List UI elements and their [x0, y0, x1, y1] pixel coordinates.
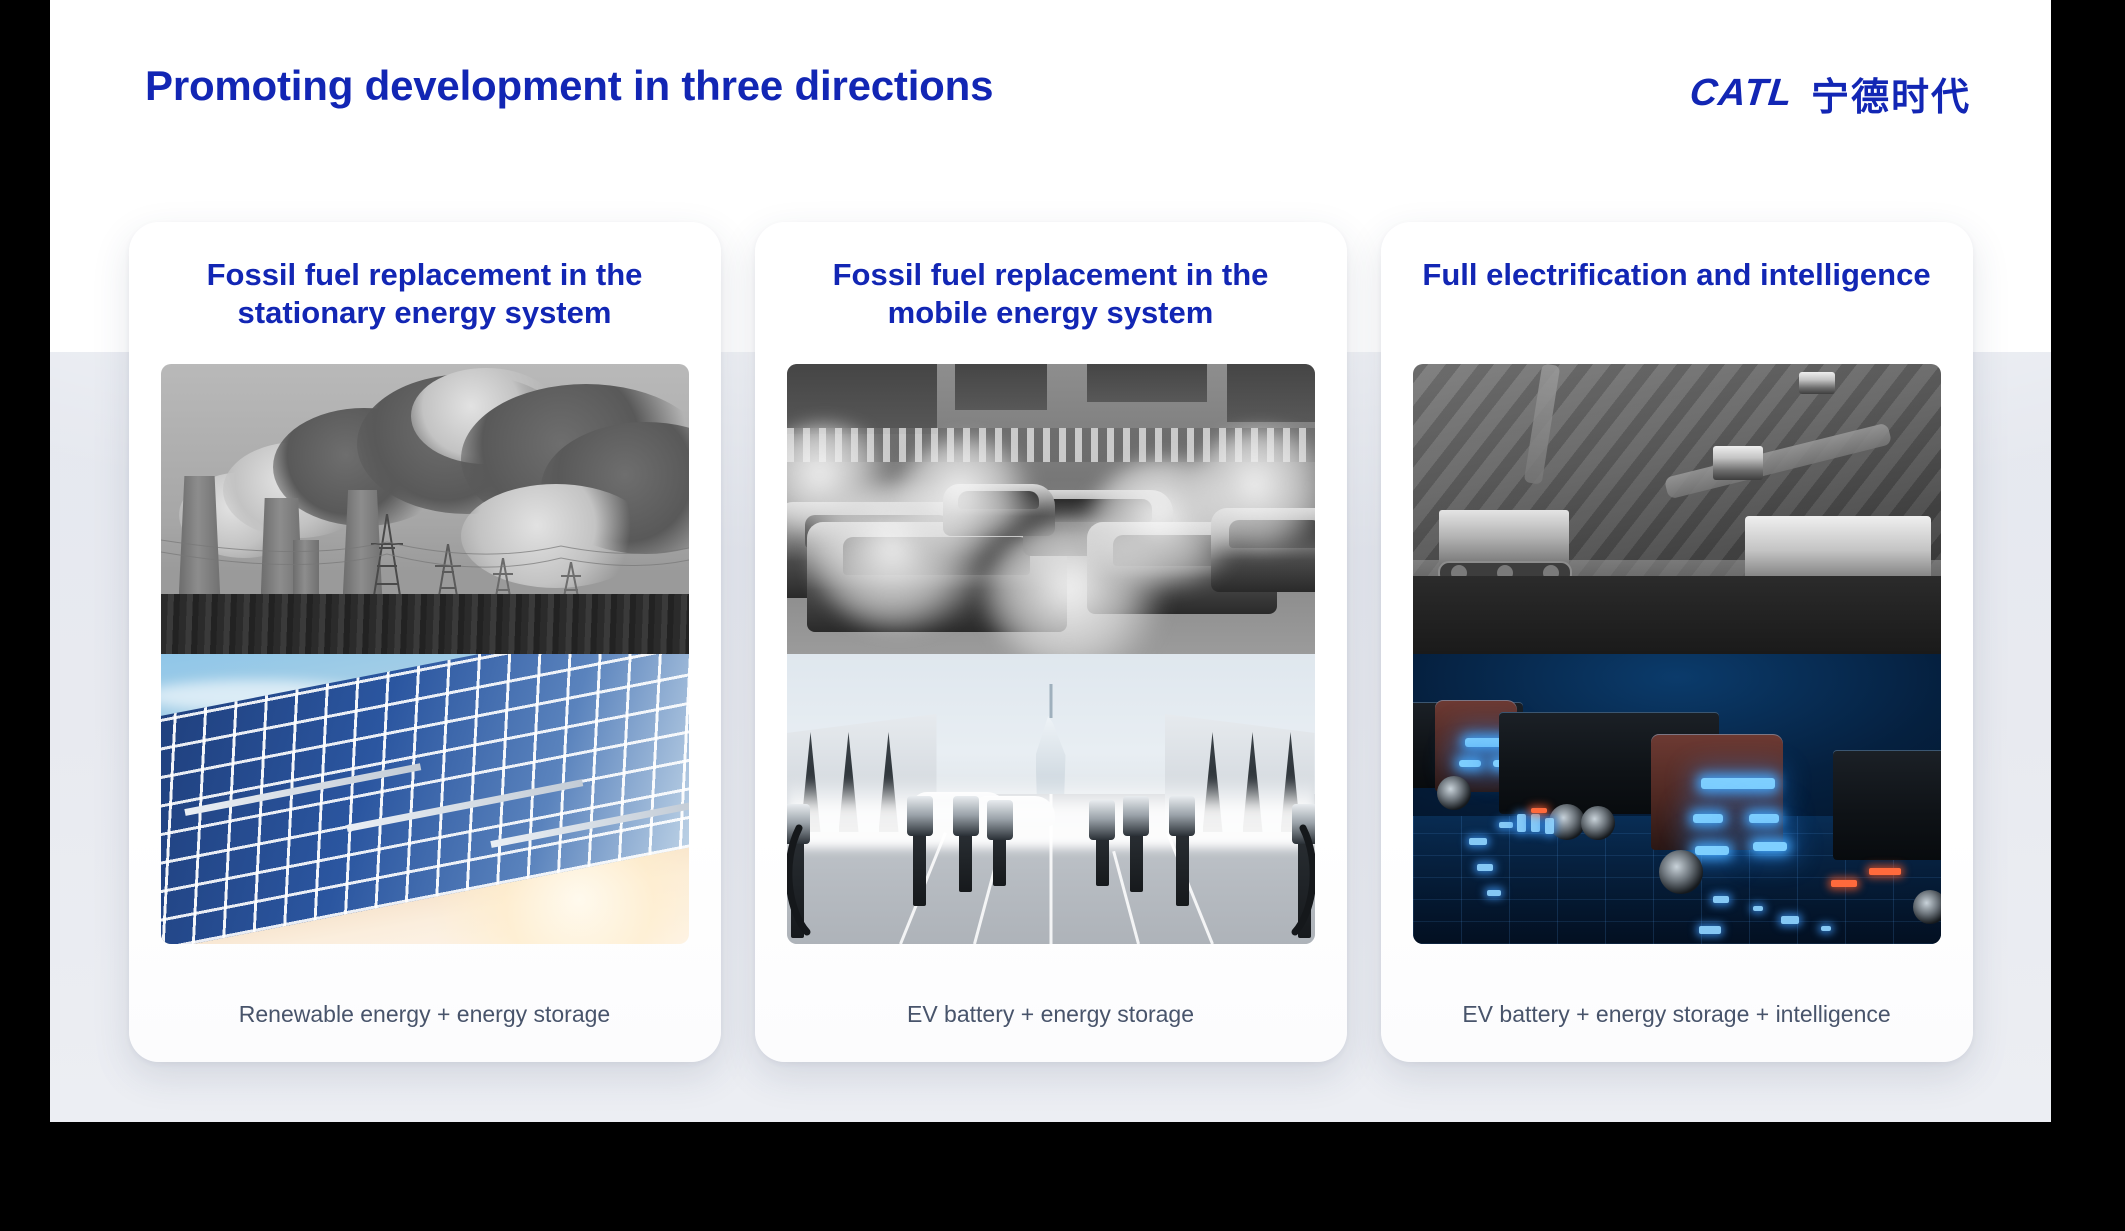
- card-caption: Renewable energy + energy storage: [239, 1001, 610, 1028]
- card-caption: EV battery + energy storage + intelligen…: [1462, 1001, 1890, 1028]
- card-title: Fossil fuel replacement in the stationar…: [157, 256, 693, 348]
- catl-logo: CATL 宁德时代: [1690, 66, 1971, 121]
- page-title: Promoting development in three direction…: [145, 62, 993, 110]
- slide-stage: Promoting development in three direction…: [50, 0, 2051, 1122]
- logo-latin-text: CATL: [1688, 72, 1795, 115]
- card-title: Fossil fuel replacement in the mobile en…: [783, 256, 1319, 348]
- power-lines: [161, 522, 689, 602]
- card-media-stack: [787, 364, 1315, 944]
- open-pit-mine-photo: [1413, 364, 1941, 654]
- ev-charging-station-photo: [787, 654, 1315, 944]
- smart-electric-trucks-photo: [1413, 654, 1941, 944]
- direction-card-3[interactable]: Full electrification and intelligence: [1381, 222, 1973, 1062]
- traffic-exhaust-photo: [787, 364, 1315, 654]
- card-media-stack: [1413, 364, 1941, 944]
- direction-card-1[interactable]: Fossil fuel replacement in the stationar…: [129, 222, 721, 1062]
- coal-power-plant-photo: [161, 364, 689, 654]
- solar-panel-photo: [161, 654, 689, 944]
- card-media-stack: [161, 364, 689, 944]
- logo-chinese-text: 宁德时代: [1811, 66, 1971, 121]
- direction-card-2[interactable]: Fossil fuel replacement in the mobile en…: [755, 222, 1347, 1062]
- direction-card-row: Fossil fuel replacement in the stationar…: [50, 222, 2051, 1072]
- card-caption: EV battery + energy storage: [907, 1001, 1194, 1028]
- card-title: Full electrification and intelligence: [1416, 256, 1936, 348]
- charging-cable: [787, 820, 847, 940]
- slide-header: Promoting development in three direction…: [50, 0, 2051, 150]
- charging-cable: [1255, 820, 1315, 940]
